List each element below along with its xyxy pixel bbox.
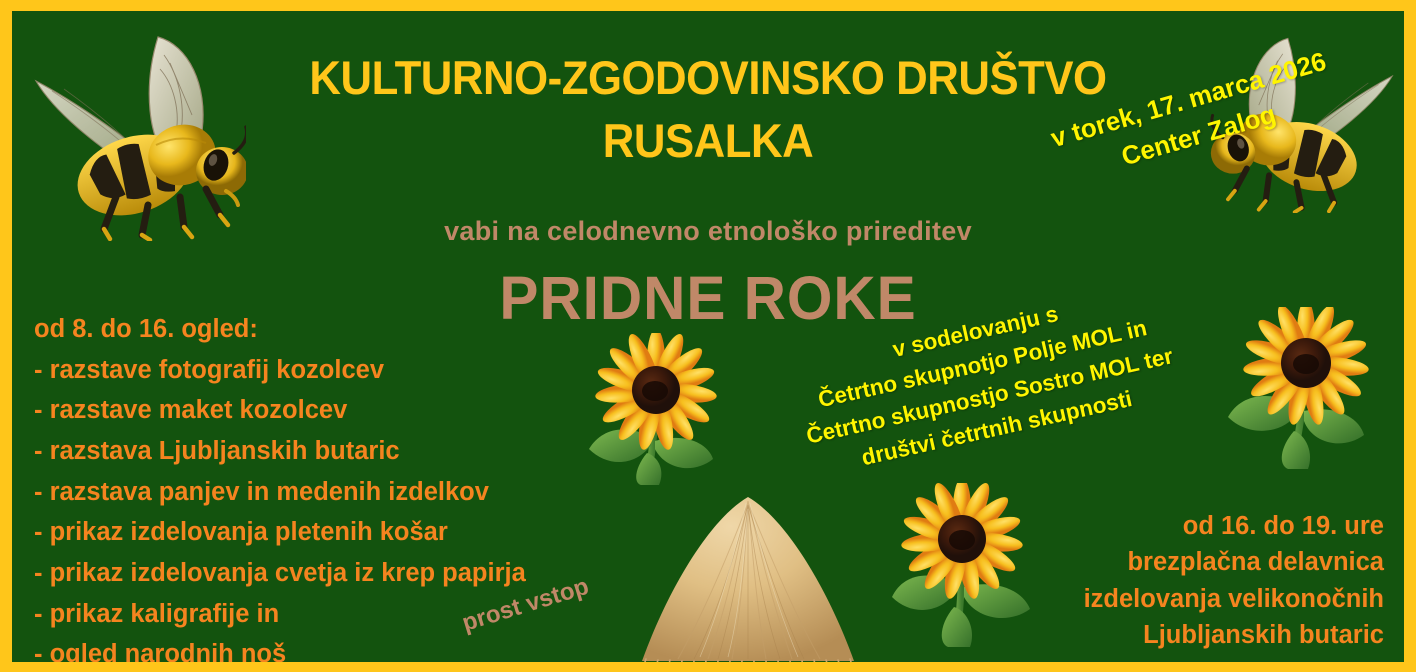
day-program-block: od 8. do 16. ogled: - razstave fotografi… [34,309,526,662]
day-program-heading: od 8. do 16. ogled: [34,309,526,350]
sunflower-bottom-icon [890,483,1062,647]
day-program-item: - ogled narodnih noš [34,634,526,662]
day-program-item: - razstave fotografij kozolcev [34,350,526,391]
poster-canvas: KULTURNO-ZGODOVINSKO DRUŠTVO RUSALKA vab… [12,11,1404,662]
sunflower-center-icon [585,333,735,485]
haystack-icon [632,493,864,662]
poster: KULTURNO-ZGODOVINSKO DRUŠTVO RUSALKA vab… [0,0,1416,672]
day-program-item: - razstava Ljubljanskih butaric [34,431,526,472]
day-program-item: - razstave maket kozolcev [34,390,526,431]
day-program-item: - prikaz izdelovanja pletenih košar [34,512,526,553]
invitation-line: vabi na celodnevno etnološko prireditev [12,216,1404,247]
day-program-item: - razstava panjev in medenih izdelkov [34,472,526,513]
evening-program-block: od 16. do 19. ure brezplačna delavnica i… [1084,508,1384,654]
day-program-item: - prikaz izdelovanja cvetja iz krep papi… [34,553,526,594]
day-program-item: - prikaz kaligrafije in [34,594,526,635]
